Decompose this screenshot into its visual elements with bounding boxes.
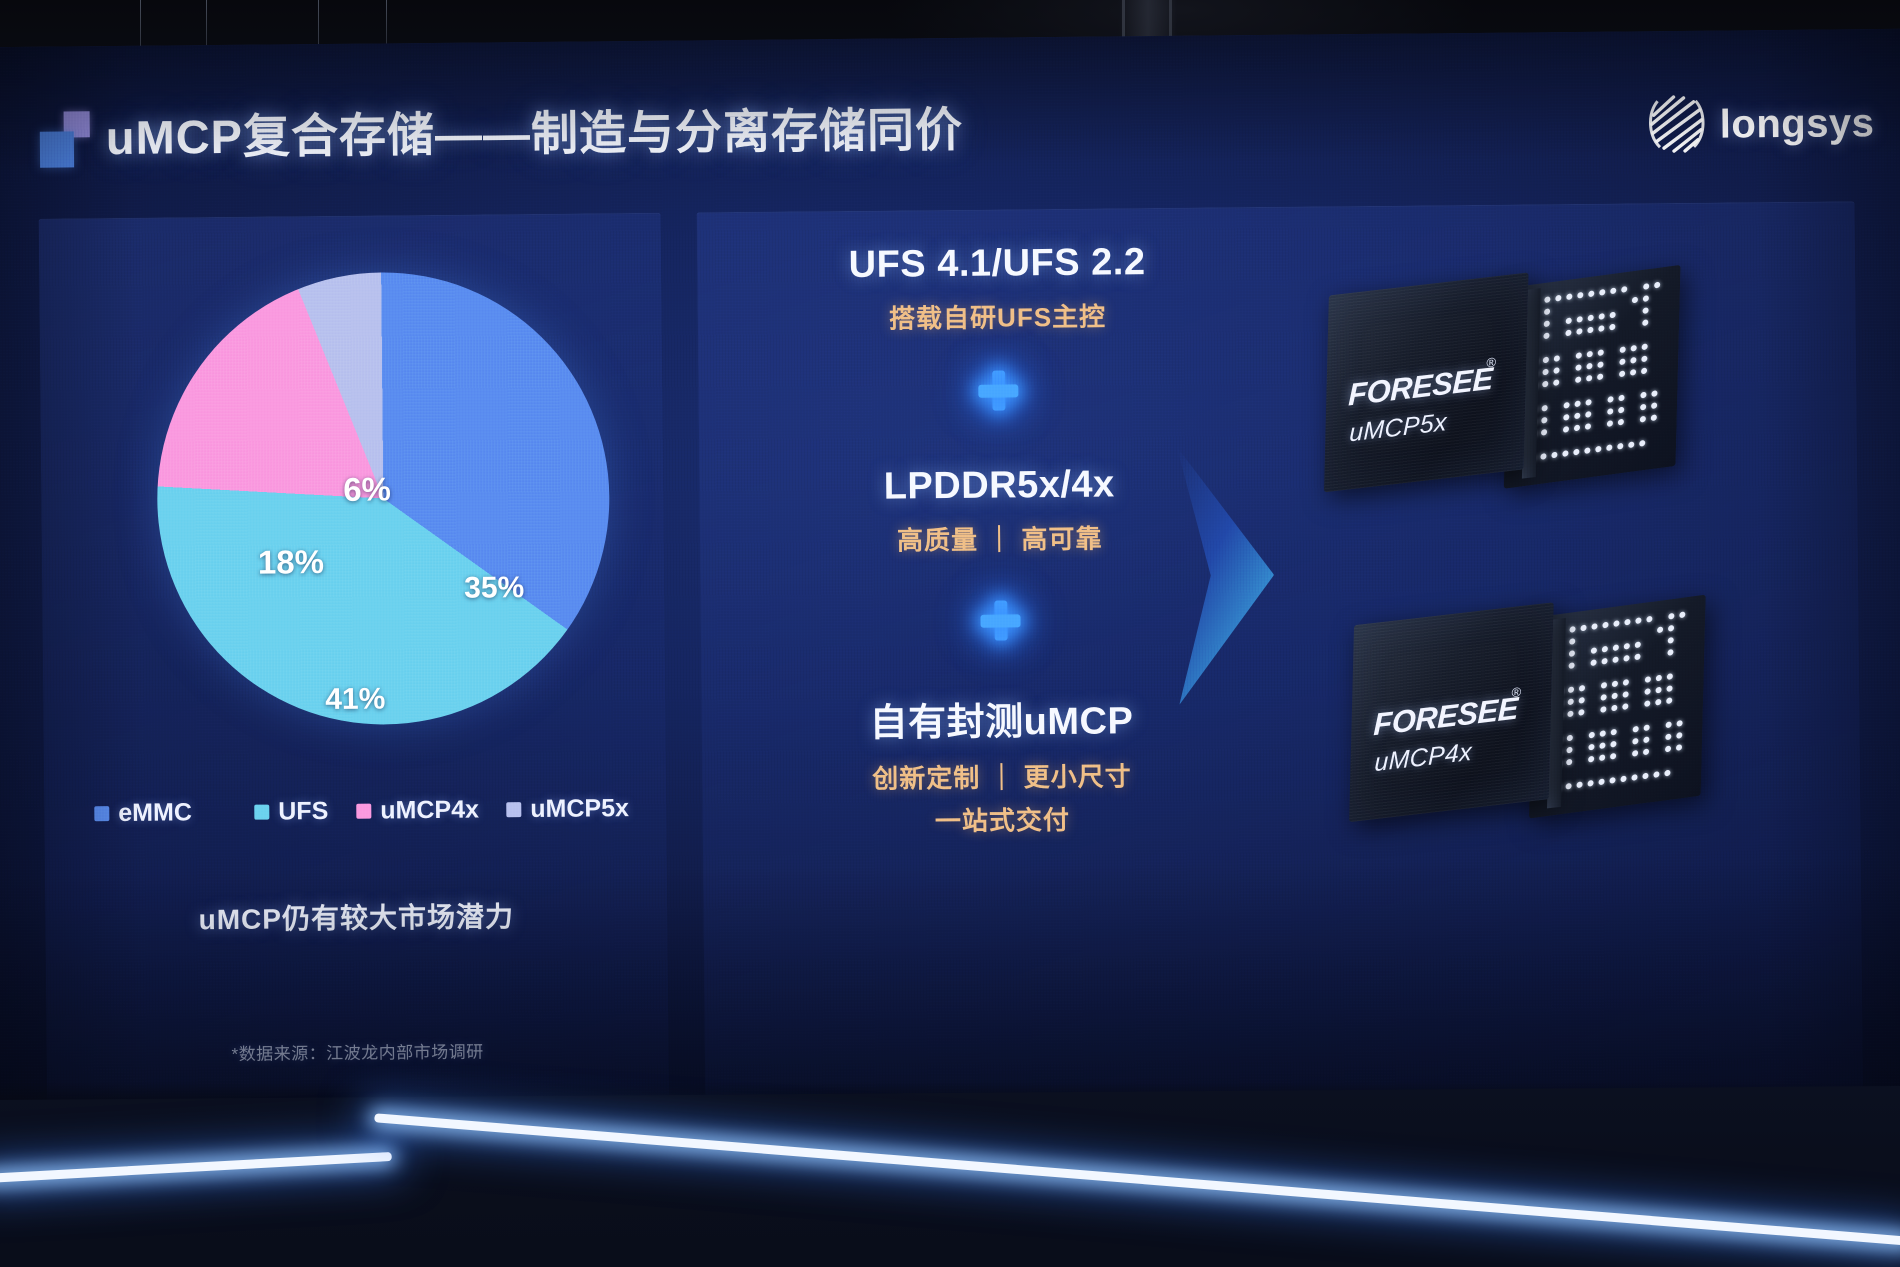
legend-label: eMMC: [118, 798, 192, 828]
solder-ball: [1631, 345, 1637, 352]
solder-ball: [1657, 626, 1663, 633]
solder-ball: [1619, 358, 1625, 365]
solder-ball: [1598, 778, 1604, 785]
solder-ball: [1635, 641, 1641, 648]
legend-item-ufs: UFS: [254, 797, 328, 827]
solder-ball: [1587, 351, 1593, 358]
solder-ball: [1665, 733, 1671, 740]
solder-ball: [1574, 412, 1580, 419]
solder-ball: [1566, 759, 1572, 766]
feature-subtitle: 高质量 ｜ 高可靠: [740, 517, 1260, 559]
solder-ball: [1624, 619, 1630, 626]
solder-ball: [1607, 420, 1613, 427]
chip-brand-label: FORESEE: [1373, 690, 1518, 743]
solder-ball: [1588, 756, 1594, 763]
feature-subtitle-secondary: 一站式交付: [742, 798, 1262, 840]
feature-packaging: 自有封测uMCP 创新定制 ｜ 更小尺寸 一站式交付: [741, 688, 1262, 840]
solder-ball: [1634, 653, 1640, 660]
solder-ball: [1651, 402, 1657, 409]
solder-ball: [1575, 364, 1581, 371]
solder-ball: [1630, 369, 1636, 376]
solder-ball: [1609, 324, 1615, 331]
solder-ball: [1577, 781, 1583, 788]
solder-ball: [1643, 736, 1649, 743]
solder-ball: [1641, 368, 1647, 375]
solder-ball: [1618, 407, 1624, 414]
solder-ball: [1588, 290, 1594, 297]
solder-ball: [1566, 783, 1572, 790]
chart-source-note: *数据来源：江波龙内部市场调研: [47, 1036, 669, 1067]
solder-ball: [1544, 296, 1550, 303]
solder-ball: [1666, 721, 1672, 728]
logo-wordmark: longsys: [1720, 101, 1875, 147]
solder-ball: [1676, 732, 1682, 739]
legend-swatch-icon: [506, 802, 521, 817]
legend-item-umcp4x: uMCP4x: [356, 796, 479, 826]
solder-ball: [1598, 349, 1604, 356]
solder-ball: [1610, 312, 1616, 319]
solder-ball: [1575, 400, 1581, 407]
solder-ball: [1580, 625, 1586, 632]
solder-ball: [1602, 658, 1608, 665]
solder-ball: [1644, 700, 1650, 707]
feature-ufs: UFS 4.1/UFS 2.2 搭载自研UFS主控: [737, 240, 1258, 337]
solder-ball: [1566, 747, 1572, 754]
solder-ball: [1611, 705, 1617, 712]
solder-ball: [1551, 452, 1557, 459]
stage-floor: [0, 1086, 1900, 1267]
legend-label: UFS: [278, 797, 328, 826]
solder-ball: [1610, 287, 1616, 294]
solder-ball: [1565, 330, 1571, 337]
solder-ball: [1613, 620, 1619, 627]
legend-label: uMCP4x: [380, 796, 479, 826]
solder-ball: [1620, 346, 1626, 353]
solder-ball: [1665, 746, 1671, 753]
legend-swatch-icon: [94, 806, 109, 821]
square-bullet-icon: [40, 111, 93, 167]
solder-ball: [1613, 644, 1619, 651]
slide: uMCP复合存储——制造与分离存储同价: [0, 29, 1900, 1107]
solder-ball: [1643, 283, 1649, 290]
solder-ball: [1667, 649, 1673, 656]
solder-ball: [1609, 777, 1615, 784]
solder-ball: [1610, 741, 1616, 748]
solder-ball: [1643, 307, 1649, 314]
plus-icon: [980, 600, 1020, 640]
solder-ball: [1579, 697, 1585, 704]
feature-subtitle: 搭载自研UFS主控: [737, 295, 1257, 337]
solder-ball: [1646, 616, 1652, 623]
solder-ball: [1597, 361, 1603, 368]
solder-ball: [1597, 373, 1603, 380]
solder-ball: [1601, 694, 1607, 701]
chart-caption: uMCP仍有较大市场潜力: [45, 894, 667, 940]
solder-ball: [1642, 319, 1648, 326]
solder-ball: [1588, 315, 1594, 322]
solder-ball: [1599, 313, 1605, 320]
solder-ball: [1566, 317, 1572, 324]
solder-ball: [1651, 390, 1657, 397]
chart-legend: eMMC UFS uMCP4x uMCP5x: [94, 794, 634, 839]
pie-slice-label-ufs: 41%: [325, 682, 385, 717]
solder-ball: [1641, 355, 1647, 362]
solder-ball: [1553, 367, 1559, 374]
solder-ball: [1553, 379, 1559, 386]
registered-mark-icon: ®: [1511, 684, 1521, 700]
solder-ball: [1599, 742, 1605, 749]
solder-ball: [1612, 656, 1618, 663]
stage-scene: uMCP复合存储——制造与分离存储同价: [0, 0, 1900, 1267]
legend-item-umcp5x: uMCP5x: [506, 794, 629, 824]
solder-ball: [1639, 440, 1645, 447]
pie-chart: 35% 41% 18% 6%: [113, 253, 587, 727]
solder-ball: [1602, 622, 1608, 629]
solder-ball: [1541, 417, 1547, 424]
solder-ball: [1542, 369, 1548, 376]
solder-ball: [1623, 655, 1629, 662]
legend-swatch-icon: [356, 804, 371, 819]
solder-ball: [1654, 282, 1660, 289]
solder-ball: [1656, 675, 1662, 682]
solder-ball: [1667, 673, 1673, 680]
solder-ball: [1645, 676, 1651, 683]
solder-ball: [1577, 292, 1583, 299]
solder-ball: [1666, 697, 1672, 704]
solder-ball: [1585, 423, 1591, 430]
solder-ball: [1544, 320, 1550, 327]
solder-ball: [1540, 453, 1546, 460]
longsys-mark-icon: [1643, 93, 1710, 156]
solder-ball: [1543, 332, 1549, 339]
feature-lpddr: LPDDR5x/4x 高质量 ｜ 高可靠: [739, 462, 1260, 559]
solder-ball: [1599, 289, 1605, 296]
solder-ball: [1542, 405, 1548, 412]
solder-ball: [1566, 293, 1572, 300]
solder-ball: [1585, 399, 1591, 406]
solder-ball: [1562, 450, 1568, 457]
registered-mark-icon: ®: [1486, 354, 1496, 370]
solder-ball: [1619, 370, 1625, 377]
solder-ball: [1642, 343, 1648, 350]
solder-ball: [1585, 411, 1591, 418]
solder-ball: [1567, 710, 1573, 717]
solder-ball: [1655, 687, 1661, 694]
solder-ball: [1677, 720, 1683, 727]
solder-ball: [1633, 726, 1639, 733]
solder-ball: [1568, 686, 1574, 693]
solder-ball: [1588, 744, 1594, 751]
solder-ball: [1595, 446, 1601, 453]
pie-slice-label-umcp4x: 18%: [258, 543, 324, 582]
page-title: uMCP复合存储——制造与分离存储同价: [105, 91, 963, 168]
solder-ball: [1541, 429, 1547, 436]
solder-ball: [1563, 426, 1569, 433]
slide-header: uMCP复合存储——制造与分离存储同价: [0, 77, 1896, 187]
solder-ball: [1632, 297, 1638, 304]
pie-slice-label-emmc: 35%: [464, 571, 524, 606]
solder-ball: [1630, 357, 1636, 364]
solder-ball: [1600, 730, 1606, 737]
solder-ball: [1640, 416, 1646, 423]
chip-model-label: uMCP5x: [1349, 408, 1447, 448]
solder-ball: [1623, 679, 1629, 686]
pie-slice-label-umcp5x: 6%: [343, 470, 391, 508]
solder-ball: [1645, 688, 1651, 695]
solder-ball: [1568, 698, 1574, 705]
solder-ball: [1584, 447, 1590, 454]
solder-ball: [1574, 425, 1580, 432]
solder-ball: [1623, 691, 1629, 698]
solder-ball: [1606, 444, 1612, 451]
solder-ball: [1576, 352, 1582, 359]
legend-swatch-icon: [254, 805, 269, 820]
solder-ball: [1607, 408, 1613, 415]
solder-ball: [1601, 682, 1607, 689]
solder-ball: [1631, 774, 1637, 781]
feature-stack: UFS 4.1/UFS 2.2 搭载自研UFS主控 LPDDR5x/4x 高质量…: [737, 230, 1265, 1065]
solder-ball: [1587, 327, 1593, 334]
solder-ball: [1586, 363, 1592, 370]
solder-ball: [1668, 613, 1674, 620]
chip-marking: FORESEE ® uMCP4x: [1349, 602, 1554, 822]
solder-ball: [1612, 693, 1618, 700]
plus-icon: [978, 370, 1018, 410]
solder-ball: [1621, 286, 1627, 293]
solder-ball: [1569, 650, 1575, 657]
solder-ball: [1600, 706, 1606, 713]
solder-ball: [1643, 748, 1649, 755]
chip-marking: FORESEE ® uMCP5x: [1324, 272, 1529, 492]
solder-ball: [1578, 709, 1584, 716]
solder-ball: [1668, 625, 1674, 632]
solder-ball: [1612, 680, 1618, 687]
legend-item-emmc: eMMC: [94, 798, 192, 828]
solder-ball: [1644, 724, 1650, 731]
solder-ball: [1598, 325, 1604, 332]
feature-title: LPDDR5x/4x: [739, 462, 1259, 510]
solder-ball: [1668, 637, 1674, 644]
solder-ball: [1591, 659, 1597, 666]
chip-model-label: uMCP4x: [1374, 738, 1472, 778]
solder-ball: [1617, 443, 1623, 450]
solder-ball: [1554, 355, 1560, 362]
solder-ball: [1628, 441, 1634, 448]
solder-ball: [1589, 732, 1595, 739]
solder-ball: [1564, 402, 1570, 409]
solder-ball: [1666, 685, 1672, 692]
solder-ball: [1610, 753, 1616, 760]
solder-ball: [1640, 392, 1646, 399]
solder-ball: [1653, 771, 1659, 778]
feature-title: UFS 4.1/UFS 2.2: [737, 240, 1257, 288]
solder-ball: [1573, 449, 1579, 456]
solder-ball: [1567, 735, 1573, 742]
solder-ball: [1679, 611, 1685, 618]
solder-ball: [1651, 414, 1657, 421]
solder-ball: [1587, 780, 1593, 787]
solder-ball: [1643, 295, 1649, 302]
solder-ball: [1624, 643, 1630, 650]
market-share-panel: 35% 41% 18% 6% eMMC UFS: [39, 213, 669, 1105]
solder-ball: [1664, 770, 1670, 777]
solder-ball: [1569, 626, 1575, 633]
solder-ball: [1620, 776, 1626, 783]
feature-subtitle: 创新定制 ｜ 更小尺寸: [742, 755, 1262, 797]
solder-ball: [1618, 419, 1624, 426]
solder-ball: [1543, 357, 1549, 364]
solder-ball: [1575, 376, 1581, 383]
led-presentation-screen: uMCP复合存储——制造与分离存储同价: [0, 29, 1900, 1107]
solder-ball: [1591, 623, 1597, 630]
solder-ball: [1586, 375, 1592, 382]
solder-ball: [1569, 662, 1575, 669]
solder-ball: [1676, 744, 1682, 751]
solder-ball: [1563, 414, 1569, 421]
solder-ball: [1599, 754, 1605, 761]
solder-ball: [1655, 699, 1661, 706]
solder-ball: [1569, 638, 1575, 645]
solder-ball: [1602, 646, 1608, 653]
solder-ball: [1632, 738, 1638, 745]
solder-ball: [1635, 617, 1641, 624]
solder-ball: [1618, 395, 1624, 402]
chip-brand-label: FORESEE: [1348, 361, 1493, 414]
solder-ball: [1632, 750, 1638, 757]
solder-ball: [1544, 308, 1550, 315]
solder-ball: [1622, 703, 1628, 710]
solder-ball: [1555, 295, 1561, 302]
solder-ball: [1640, 404, 1646, 411]
solder-ball: [1591, 647, 1597, 654]
solder-ball: [1576, 328, 1582, 335]
brand-logo: longsys: [1643, 87, 1886, 161]
solder-ball: [1611, 729, 1617, 736]
product-composition-panel: UFS 4.1/UFS 2.2 搭载自研UFS主控 LPDDR5x/4x 高质量…: [697, 201, 1863, 1098]
solder-ball: [1642, 773, 1648, 780]
solder-ball: [1579, 685, 1585, 692]
solder-ball: [1607, 396, 1613, 403]
legend-label: uMCP5x: [530, 794, 629, 824]
solder-ball: [1542, 381, 1548, 388]
solder-ball: [1577, 316, 1583, 323]
